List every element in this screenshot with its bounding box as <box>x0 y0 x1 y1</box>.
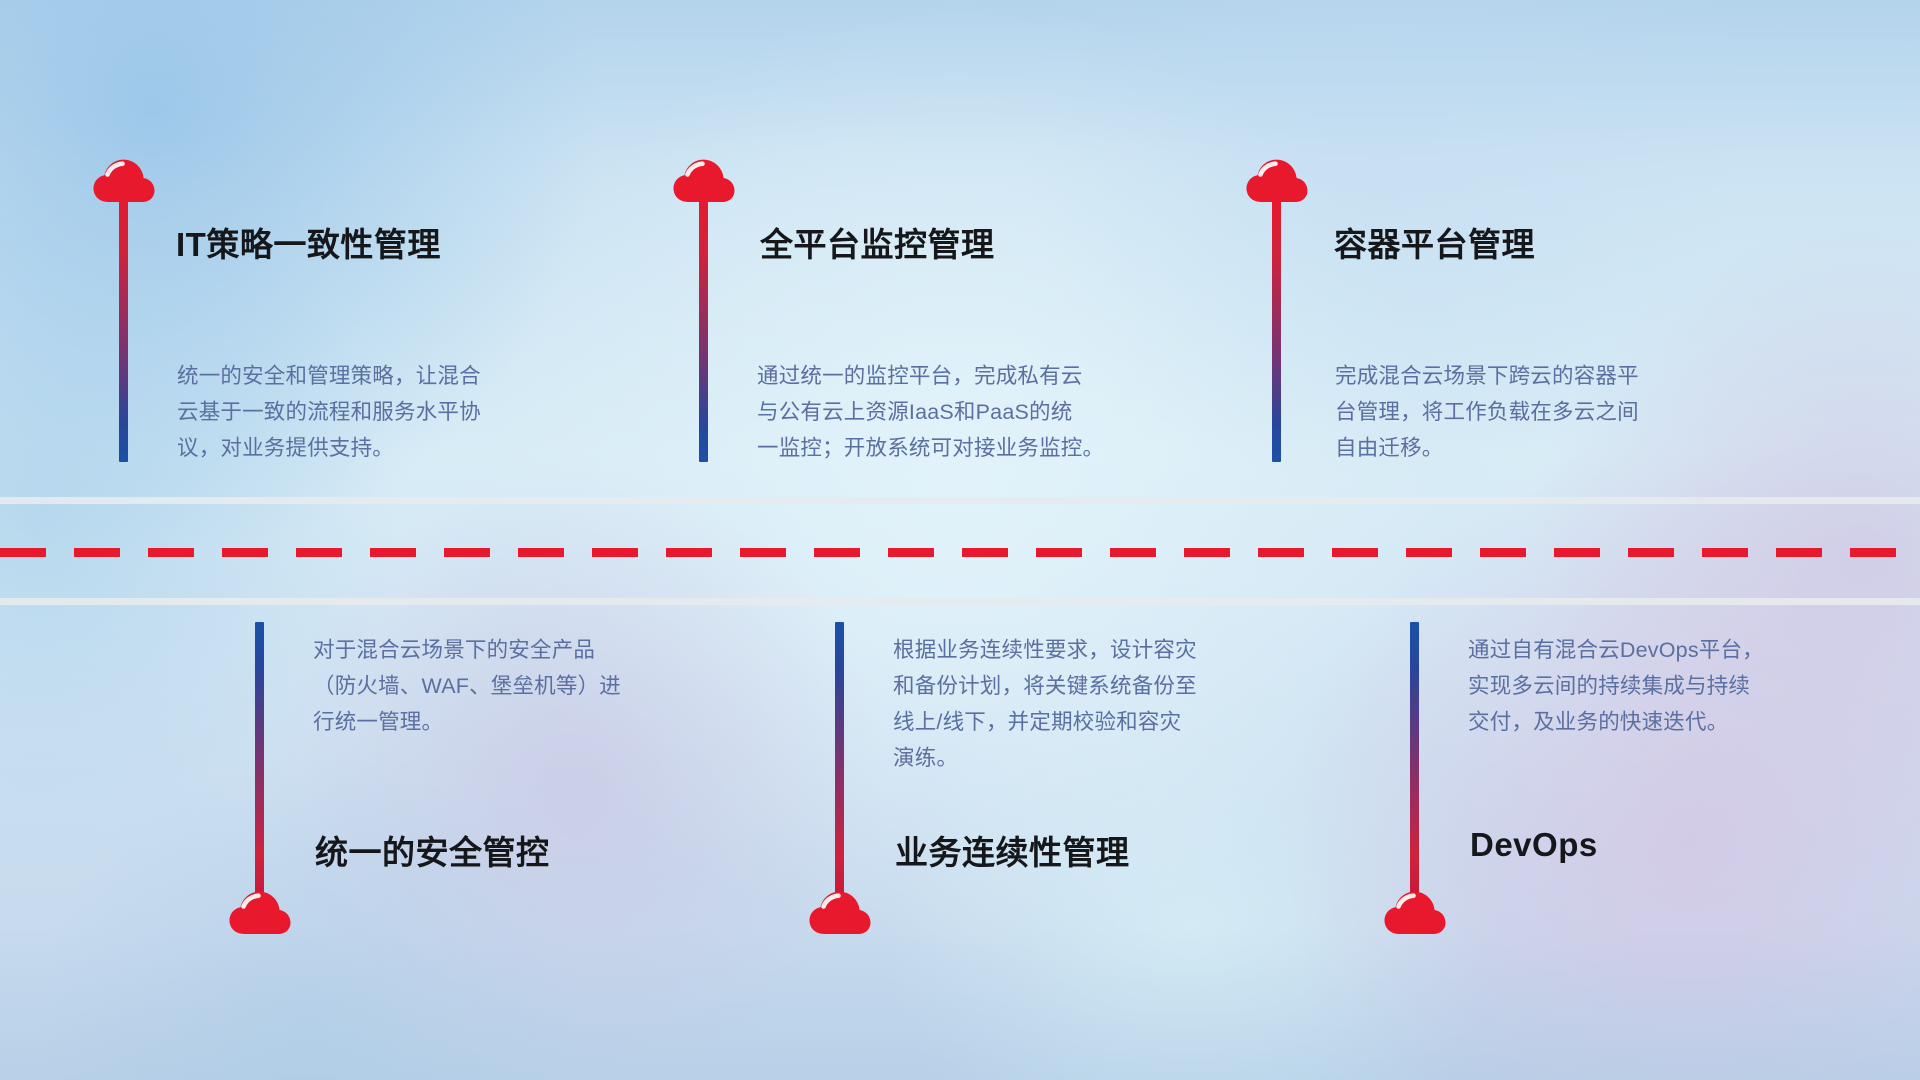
connector-stem <box>255 622 264 908</box>
body-line: 统一的安全和管理策略，让混合 <box>177 358 597 394</box>
body-line: 云基于一致的流程和服务水平协 <box>177 394 597 430</box>
cloud-icon <box>228 890 292 936</box>
body-line: 通过自有混合云DevOps平台， <box>1468 632 1898 668</box>
body-line: 台管理，将工作负载在多云之间 <box>1335 394 1755 430</box>
connector-stem <box>1272 196 1281 462</box>
top-item-3-body: 完成混合云场景下跨云的容器平 台管理，将工作负载在多云之间 自由迁移。 <box>1335 358 1755 466</box>
body-line: 演练。 <box>893 740 1323 776</box>
timeline-dashed-line <box>0 548 1920 557</box>
body-line: 议，对业务提供支持。 <box>177 430 597 466</box>
infographic-canvas: IT策略一致性管理 统一的安全和管理策略，让混合 云基于一致的流程和服务水平协 … <box>0 0 1920 1080</box>
top-item-2-title: 全平台监控管理 <box>760 218 995 266</box>
cloud-icon <box>808 890 872 936</box>
body-line: 根据业务连续性要求，设计容灾 <box>893 632 1323 668</box>
body-line: 自由迁移。 <box>1335 430 1755 466</box>
connector-stem <box>119 196 128 462</box>
body-line: 线上/线下，并定期校验和容灾 <box>893 704 1323 740</box>
body-line: 完成混合云场景下跨云的容器平 <box>1335 358 1755 394</box>
body-line: 交付，及业务的快速迭代。 <box>1468 704 1898 740</box>
top-item-1-body: 统一的安全和管理策略，让混合 云基于一致的流程和服务水平协 议，对业务提供支持。 <box>177 358 597 466</box>
body-line: 行统一管理。 <box>313 704 743 740</box>
bottom-item-1-title: 统一的安全管控 <box>315 826 550 874</box>
top-item-2-body: 通过统一的监控平台，完成私有云 与公有云上资源IaaS和PaaS的统 一监控；开… <box>757 358 1197 466</box>
body-line: （防火墙、WAF、堡垒机等）进 <box>313 668 743 704</box>
connector-stem <box>1410 622 1419 908</box>
body-line: 通过统一的监控平台，完成私有云 <box>757 358 1197 394</box>
body-line: 一监控；开放系统可对接业务监控。 <box>757 430 1197 466</box>
bottom-item-2-title: 业务连续性管理 <box>895 826 1130 874</box>
top-item-3-title: 容器平台管理 <box>1334 218 1535 266</box>
cloud-icon <box>1383 890 1447 936</box>
timeline-rail-top <box>0 497 1920 504</box>
bottom-item-3-title: DevOps <box>1470 826 1598 864</box>
body-line: 和备份计划，将关键系统备份至 <box>893 668 1323 704</box>
bottom-item-1-body: 对于混合云场景下的安全产品 （防火墙、WAF、堡垒机等）进 行统一管理。 <box>313 632 743 740</box>
connector-stem <box>699 196 708 462</box>
body-line: 与公有云上资源IaaS和PaaS的统 <box>757 394 1197 430</box>
connector-stem <box>835 622 844 908</box>
timeline-rail-bottom <box>0 598 1920 605</box>
bottom-item-2-body: 根据业务连续性要求，设计容灾 和备份计划，将关键系统备份至 线上/线下，并定期校… <box>893 632 1323 776</box>
top-item-1-title: IT策略一致性管理 <box>176 218 441 266</box>
body-line: 对于混合云场景下的安全产品 <box>313 632 743 668</box>
bottom-item-3-body: 通过自有混合云DevOps平台， 实现多云间的持续集成与持续 交付，及业务的快速… <box>1468 632 1898 740</box>
body-line: 实现多云间的持续集成与持续 <box>1468 668 1898 704</box>
